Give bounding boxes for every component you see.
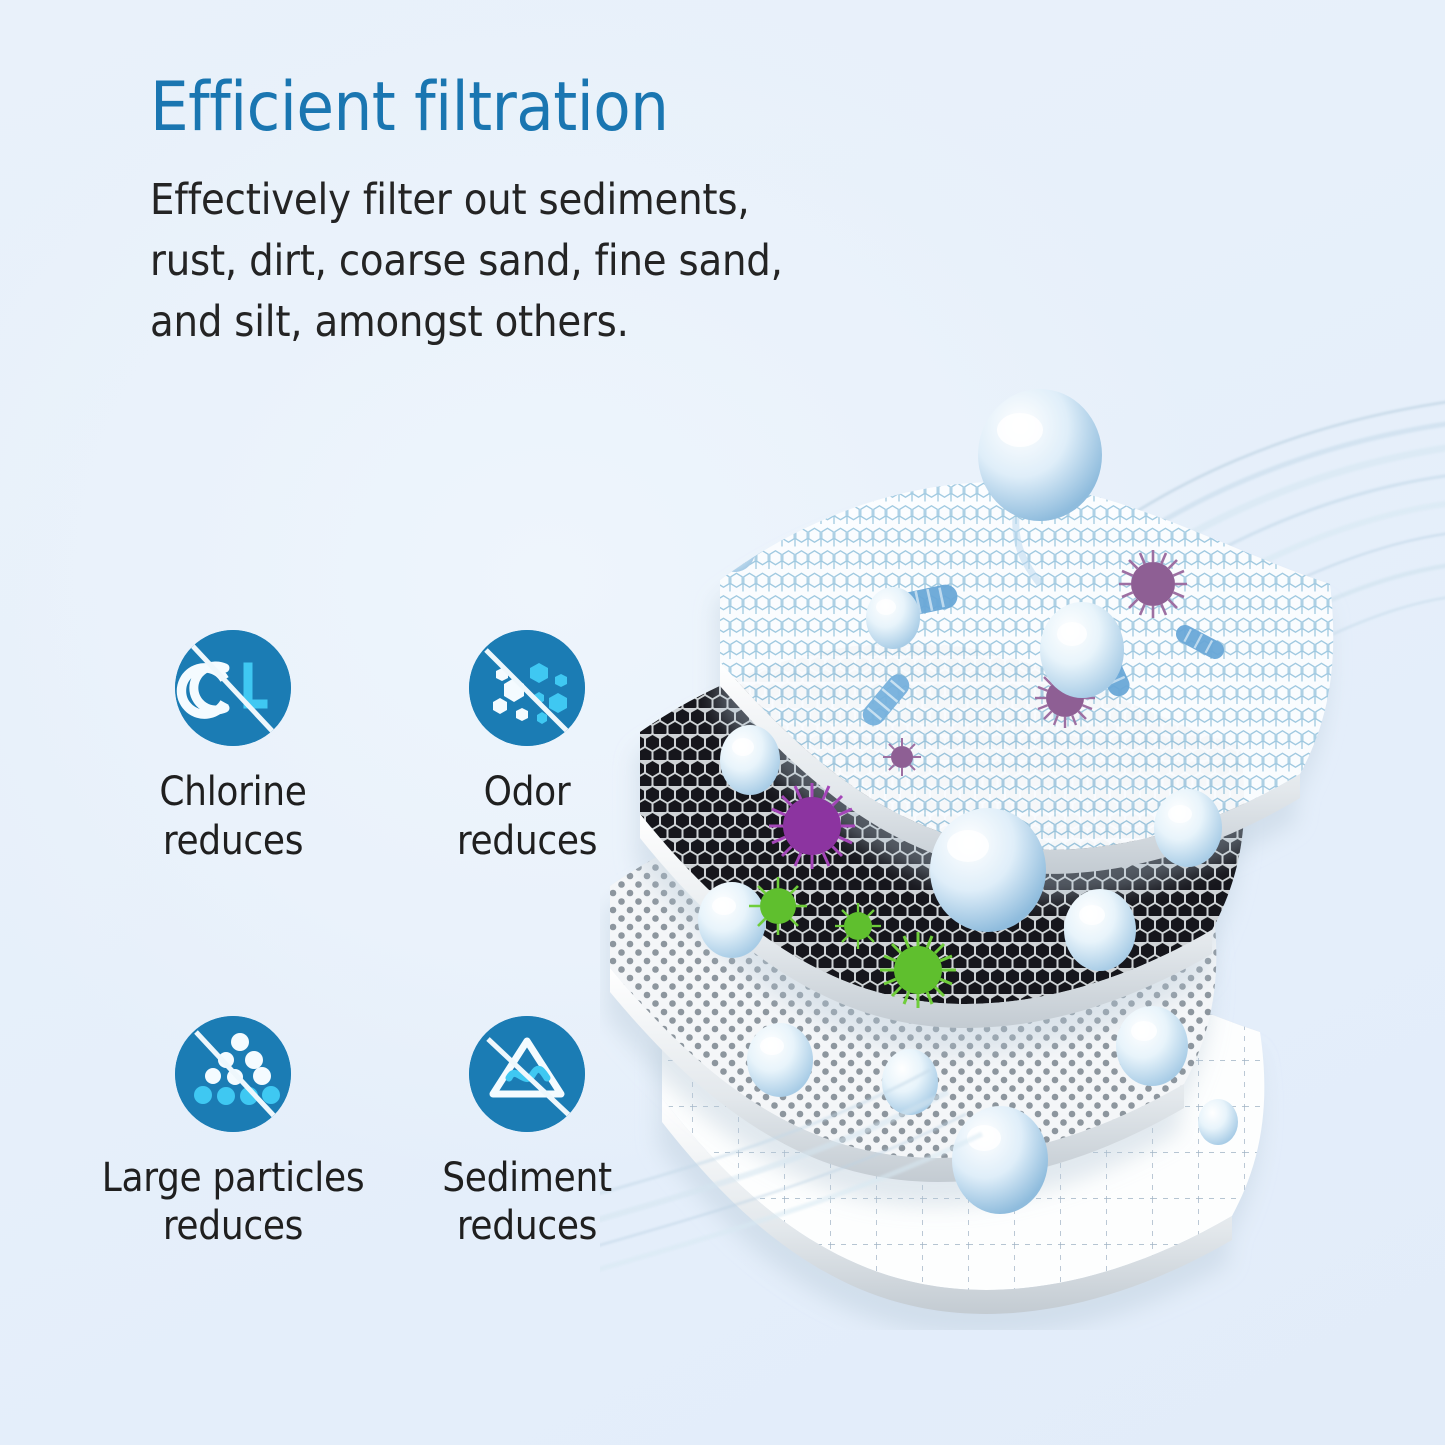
water-droplet-large-top: [978, 389, 1102, 584]
page-title: Efficient filtration: [150, 72, 940, 144]
feature-label: Sediment reduces: [442, 1154, 612, 1252]
infographic-page: Efficient filtration Effectively filter …: [0, 0, 1445, 1445]
water-droplet: [714, 524, 1124, 698]
contaminants-base-layer: [747, 1006, 1238, 1214]
headline-block: Efficient filtration Effectively filter …: [150, 72, 940, 353]
water-stream-top: [1050, 400, 1445, 756]
feature-list: Chlorine reduces: [86, 630, 686, 1251]
feature-label: Large particles reduces: [102, 1154, 365, 1252]
blue-bacillus: [858, 582, 1227, 730]
feature-row-top: Chlorine reduces: [86, 630, 686, 866]
feature-sediment[interactable]: Sediment reduces: [380, 1016, 674, 1252]
mesh-layer-top: [720, 482, 1333, 874]
filter-layer-stack-illustration: [600, 370, 1445, 1330]
feature-chlorine[interactable]: Chlorine reduces: [86, 630, 380, 866]
sediment-mountain-no-icon: [469, 1016, 585, 1132]
non-woven-base-layer: [662, 928, 1264, 1313]
water-droplet: [698, 882, 1136, 971]
contaminants-gray-layer: [698, 877, 1136, 1008]
activated-carbon-layer: [640, 643, 1244, 1028]
feature-odor[interactable]: Odor reduces: [380, 630, 674, 866]
purple-virus: [883, 550, 1187, 776]
feature-label: Chlorine reduces: [159, 768, 306, 866]
green-virus: [749, 877, 956, 1008]
feature-row-bottom: Large particles reduces Sediment reduces: [86, 1016, 686, 1252]
feature-large-particles[interactable]: Large particles reduces: [86, 1016, 380, 1252]
gray-perforated-layer: [610, 797, 1216, 1182]
large-particles-no-icon: [175, 1016, 291, 1132]
subtitle-line-3: and silt, amongst others.: [150, 292, 940, 353]
subtitle-line-1: Effectively filter out sediments,: [150, 170, 940, 231]
chlorine-no-icon: [175, 630, 291, 746]
purple-virus: [769, 783, 855, 869]
odor-molecules-no-icon: [469, 630, 585, 746]
water-droplet: [720, 725, 1222, 932]
subtitle-line-2: rust, dirt, coarse sand, fine sand,: [150, 231, 940, 292]
feature-label: Odor reduces: [457, 768, 597, 866]
contaminants-top-layer: [714, 524, 1227, 776]
page-subtitle: Effectively filter out sediments, rust, …: [150, 144, 940, 353]
contaminants-carbon-layer: [720, 725, 1222, 932]
